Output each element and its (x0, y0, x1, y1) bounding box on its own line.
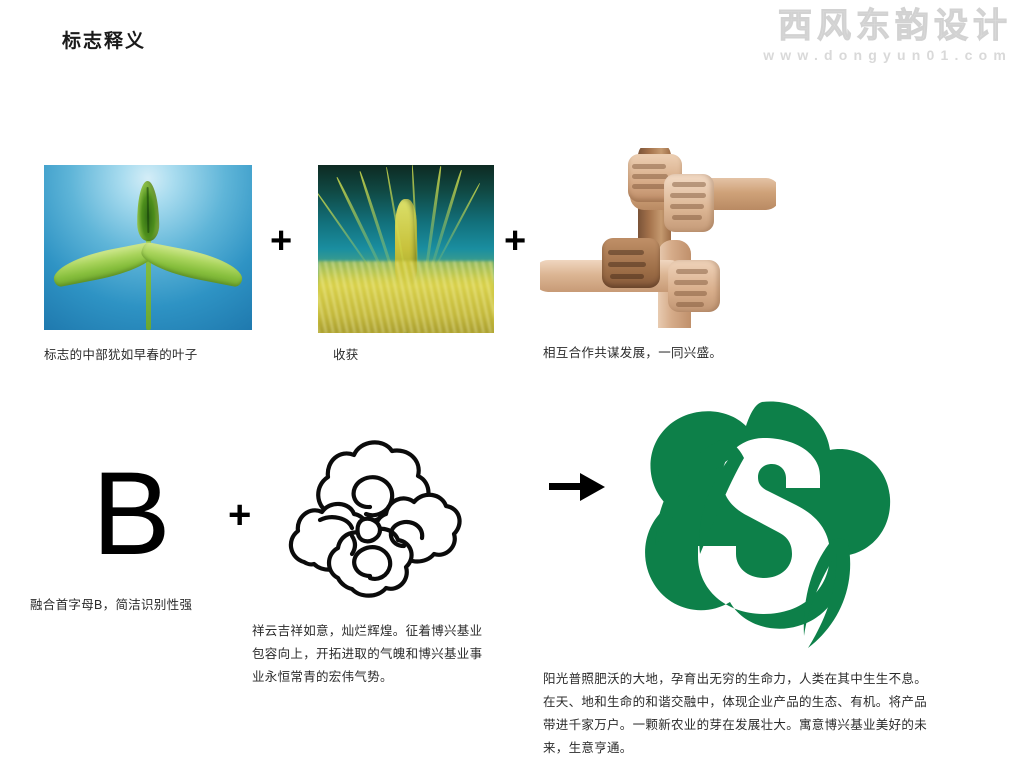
seedling-caption: 标志的中部犹如早春的叶子 (44, 345, 294, 366)
cloud-caption-line: 祥云吉祥如意，灿烂辉煌。征着博兴基业 (252, 620, 552, 643)
seedling-right-leaf (138, 241, 245, 287)
cloud-caption-line: 业永恒常青的宏伟气势。 (252, 666, 552, 689)
hand-grip-top-right (664, 174, 714, 232)
logo-caption-line: 在天、地和生命的和谐交融中，体现企业产品的生态、有机。将产品 (543, 691, 1013, 714)
seedling-bud (136, 181, 159, 241)
logo-caption-line: 带进千家万户。一颗新农业的芽在发展壮大。寓意博兴基业美好的未 (543, 714, 1013, 737)
logo-caption-line: 阳光普照肥沃的大地，孕育出无穷的生命力，人类在其中生生不息。 (543, 668, 1013, 691)
joined-hands-photo (540, 148, 776, 328)
slide-canvas: 标志释义 西风东韵设计 www.dongyun01.com 标志的中部犹如早春的… (0, 0, 1024, 768)
watermark-logo-text: 西风东韵设计 (682, 6, 1012, 46)
cloud-caption: 祥云吉祥如意，灿烂辉煌。征着博兴基业 包容向上，开拓进取的气魄和博兴基业事 业永… (252, 620, 552, 689)
hands-caption: 相互合作共谋发展，一同兴盛。 (543, 343, 943, 364)
logo-caption-line: 来，生意亨通。 (543, 737, 1013, 760)
wheat-field (318, 261, 494, 333)
watermark-url-text: www.dongyun01.com (682, 46, 1012, 64)
auspicious-cloud-icon (252, 424, 470, 614)
plus-icon: + (228, 495, 251, 535)
page-title: 标志释义 (62, 26, 146, 53)
letter-b-graphic: B (92, 455, 171, 573)
plus-icon: + (504, 222, 526, 260)
hand-grip-bottom-right (668, 260, 720, 312)
seedling-photo (44, 165, 252, 330)
cloud-caption-line: 包容向上，开拓进取的气魄和博兴基业事 (252, 643, 552, 666)
arrow-right-icon (548, 470, 606, 504)
wheat-photo (318, 165, 494, 333)
watermark: 西风东韵设计 www.dongyun01.com (682, 6, 1012, 72)
wheat-caption: 收获 (333, 345, 493, 366)
hand-grip-bottom-left (602, 238, 660, 288)
plus-icon: + (270, 222, 292, 260)
logo-caption: 阳光普照肥沃的大地，孕育出无穷的生命力，人类在其中生生不息。 在天、地和生命的和… (543, 668, 1013, 760)
brand-logo-icon (612, 396, 902, 666)
